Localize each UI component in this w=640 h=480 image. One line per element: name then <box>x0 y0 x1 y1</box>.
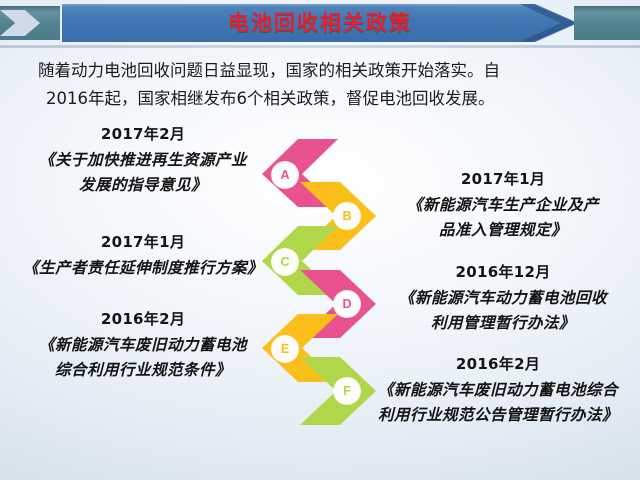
policy-label-b: 2017年1月 《新能源汽车生产企业及产 品准入管理规定》 <box>372 167 634 242</box>
policy-date-b: 2017年1月 <box>372 167 634 192</box>
step-badge-b[interactable]: B <box>334 203 360 229</box>
intro-line-2: 2016年起，国家相继发布6个相关政策，督促电池回收发展。 <box>38 85 604 113</box>
policy-label-e: 2016年2月 《新能源汽车废旧动力蓄电池 综合利用行业规范条件》 <box>4 307 282 382</box>
policy-label-a: 2017年2月 《关于加快推进再生资源产业 发展的指导意见》 <box>4 122 282 197</box>
policy-title-b-line-1: 《新能源汽车生产企业及产 <box>372 192 634 217</box>
policy-title-d: 《新能源汽车动力蓄电池回收 利用管理暂行办法》 <box>372 285 634 335</box>
policy-title-b-line-2: 品准入管理规定》 <box>372 217 634 242</box>
policy-title-b: 《新能源汽车生产企业及产 品准入管理规定》 <box>372 192 634 242</box>
policy-title-c-line-1: 《生产者责任延伸制度推行方案》 <box>4 255 282 280</box>
intro-line-1: 随着动力电池回收问题日益显现，国家的相关政策开始落实。自 <box>38 57 604 85</box>
policy-title-a: 《关于加快推进再生资源产业 发展的指导意见》 <box>4 147 282 197</box>
step-badge-d[interactable]: D <box>334 291 360 317</box>
policy-label-d: 2016年12月 《新能源汽车动力蓄电池回收 利用管理暂行办法》 <box>372 260 634 335</box>
policy-date-d: 2016年12月 <box>372 260 634 285</box>
policy-title-f: 《新能源汽车废旧动力蓄电池综合 利用行业规范公告管理暂行办法》 <box>358 377 638 427</box>
policy-title-e-line-1: 《新能源汽车废旧动力蓄电池 <box>4 332 282 357</box>
policy-date-e: 2016年2月 <box>4 307 282 332</box>
policy-title-f-line-2: 利用行业规范公告管理暂行办法》 <box>358 402 638 427</box>
policy-label-c: 2017年1月 《生产者责任延伸制度推行方案》 <box>4 230 282 280</box>
policy-title-c: 《生产者责任延伸制度推行方案》 <box>4 255 282 280</box>
step-badge-f[interactable]: F <box>334 378 360 404</box>
policy-label-f: 2016年2月 《新能源汽车废旧动力蓄电池综合 利用行业规范公告管理暂行办法》 <box>358 352 638 427</box>
policy-title-f-line-1: 《新能源汽车废旧动力蓄电池综合 <box>358 377 638 402</box>
policy-date-a: 2017年2月 <box>4 122 282 147</box>
policy-title-a-line-1: 《关于加快推进再生资源产业 <box>4 147 282 172</box>
page-header: 电池回收相关政策 <box>0 0 640 46</box>
intro-paragraph: 随着动力电池回收问题日益显现，国家的相关政策开始落实。自 2016年起，国家相继… <box>38 57 604 113</box>
policy-date-f: 2016年2月 <box>358 352 638 377</box>
policy-title-d-line-1: 《新能源汽车动力蓄电池回收 <box>372 285 634 310</box>
policy-title-a-line-2: 发展的指导意见》 <box>4 172 282 197</box>
policy-title-e-line-2: 综合利用行业规范条件》 <box>4 357 282 382</box>
policy-date-c: 2017年1月 <box>4 230 282 255</box>
policy-title-e: 《新能源汽车废旧动力蓄电池 综合利用行业规范条件》 <box>4 332 282 382</box>
page-title: 电池回收相关政策 <box>0 7 640 39</box>
policy-title-d-line-2: 利用管理暂行办法》 <box>372 310 634 335</box>
header-divider <box>0 45 640 48</box>
